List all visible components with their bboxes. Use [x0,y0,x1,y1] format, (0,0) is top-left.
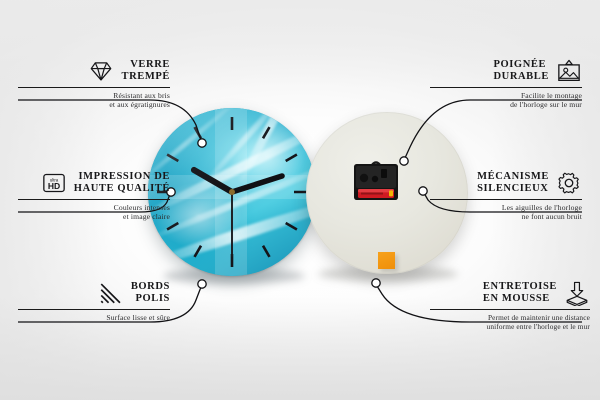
feature-impression-haute-qualite: ultra HD IMPRESSION DE HAUTE QUALITÉ Cou… [18,170,170,222]
feature-title: MÉCANISME SILENCIEUX [477,171,549,195]
callout-dot [400,157,408,165]
feature-divider [430,199,582,200]
feature-divider [18,199,170,200]
polished-edges-icon [98,280,124,306]
feature-entretoise-en-mousse: ENTRETOISE EN MOUSSE Permet de maintenir… [430,280,590,332]
diamond-icon [88,58,114,84]
feature-divider [18,87,170,88]
feature-title: POIGNÉE DURABLE [493,59,549,83]
gear-icon [556,170,582,196]
callout-dot [372,279,380,287]
feature-description: Les aiguilles de l'horloge ne font aucun… [430,203,582,222]
feature-description: Surface lisse et sûre [18,313,170,322]
picture-hanger-icon [556,58,582,84]
feature-divider [430,309,590,310]
feature-divider [18,309,170,310]
feature-bords-polis: BORDS POLIS Surface lisse et sûre [18,280,170,322]
feature-title: VERRE TREMPÉ [121,59,170,83]
hd-label: HD [48,181,60,191]
callout-dot [419,187,427,195]
feature-heading: ENTRETOISE EN MOUSSE [430,280,590,306]
feature-poignee-durable: POIGNÉE DURABLE Facilite le montage de l… [430,58,582,110]
callout-dot [198,280,206,288]
feature-title: IMPRESSION DE HAUTE QUALITÉ [74,171,170,195]
feature-heading: BORDS POLIS [18,280,170,306]
feature-description: Permet de maintenir une distance uniform… [430,313,590,332]
callout-dot [198,139,206,147]
feature-description: Couleurs intenses et image claire [18,203,170,222]
feature-mecanisme-silencieux: MÉCANISME SILENCIEUX Les aiguilles de l'… [430,170,582,222]
feature-description: Résistant aux bris et aux égratignures [18,91,170,110]
foam-spacer-icon [564,280,590,306]
feature-heading: POIGNÉE DURABLE [430,58,582,84]
feature-title: ENTRETOISE EN MOUSSE [483,281,557,305]
feature-heading: VERRE TREMPÉ [18,58,170,84]
feature-title: BORDS POLIS [131,281,170,305]
feature-verre-trempe: VERRE TREMPÉ Résistant aux bris et aux é… [18,58,170,110]
ultra-hd-badge-icon: ultra HD [41,170,67,196]
feature-heading: MÉCANISME SILENCIEUX [430,170,582,196]
infographic-canvas: VERRE TREMPÉ Résistant aux bris et aux é… [0,0,600,400]
feature-description: Facilite le montage de l'horloge sur le … [430,91,582,110]
feature-divider [430,87,582,88]
feature-heading: ultra HD IMPRESSION DE HAUTE QUALITÉ [18,170,170,196]
